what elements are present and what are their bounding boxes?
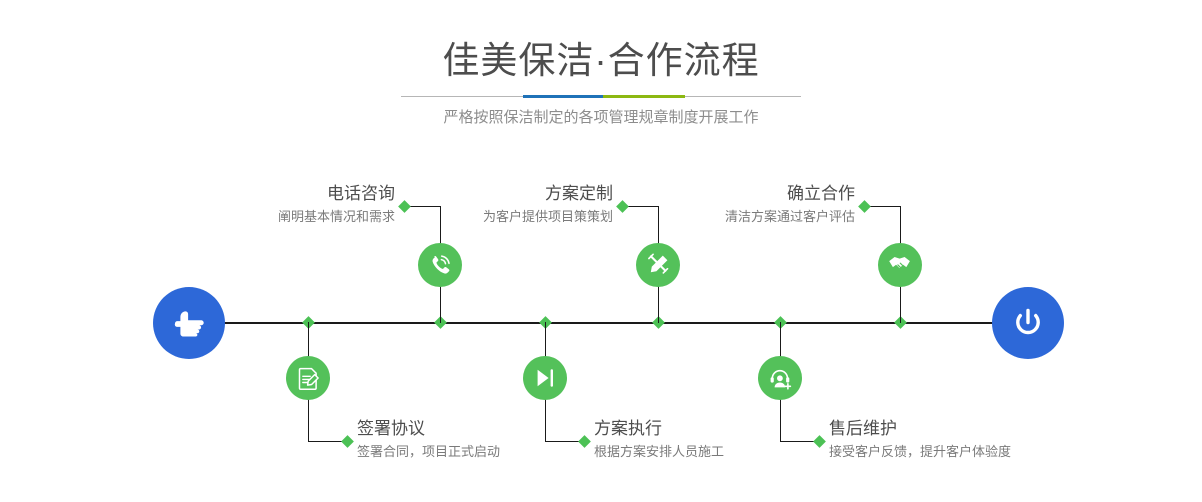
divider-left-line xyxy=(401,96,523,97)
play-next-icon xyxy=(533,366,557,390)
pencil-cross-icon xyxy=(645,252,671,278)
flow-start-node[interactable] xyxy=(153,287,225,359)
page-subtitle: 严格按照保洁制定的各项管理规章制度开展工作 xyxy=(0,107,1202,129)
page-title: 佳美保洁·合作流程 xyxy=(0,38,1202,84)
step-2-icon-node[interactable] xyxy=(286,356,330,400)
pointing-hand-icon xyxy=(169,303,209,343)
step-6-desc: 接受客户反馈，提升客户体验度 xyxy=(829,442,1169,462)
step-1-icon-node[interactable] xyxy=(418,243,462,287)
power-icon xyxy=(1008,303,1048,343)
divider-right-line xyxy=(685,96,801,97)
title-divider xyxy=(401,95,801,98)
step-4-icon-node[interactable] xyxy=(523,356,567,400)
step-2-label-diamond xyxy=(341,435,354,448)
flow-diagram-page: 佳美保洁·合作流程 严格按照保洁制定的各项管理规章制度开展工作 xyxy=(0,0,1202,502)
step-5-label-diamond xyxy=(858,200,871,213)
step-5-desc: 清洁方案通过客户评估 xyxy=(510,207,855,227)
divider-blue-segment xyxy=(523,95,603,98)
page-header: 佳美保洁·合作流程 严格按照保洁制定的各项管理规章制度开展工作 xyxy=(0,0,1202,150)
process-flow: 电话咨询 阐明基本情况和需求 签署协议 签署合同， xyxy=(0,150,1202,502)
handshake-icon xyxy=(887,252,913,278)
flow-end-node[interactable] xyxy=(992,287,1064,359)
step-6-title: 售后维护 xyxy=(829,418,1169,440)
step-3-icon-node[interactable] xyxy=(636,243,680,287)
customer-service-icon xyxy=(768,366,793,391)
phone-call-icon xyxy=(427,252,453,278)
step-5-title: 确立合作 xyxy=(510,183,855,205)
step-5-text: 确立合作 清洁方案通过客户评估 xyxy=(510,183,855,227)
step-5-icon-node[interactable] xyxy=(878,243,922,287)
step-6-text: 售后维护 接受客户反馈，提升客户体验度 xyxy=(829,418,1169,462)
divider-green-segment xyxy=(603,95,685,98)
document-edit-icon xyxy=(296,366,321,391)
step-6-icon-node[interactable] xyxy=(758,356,802,400)
